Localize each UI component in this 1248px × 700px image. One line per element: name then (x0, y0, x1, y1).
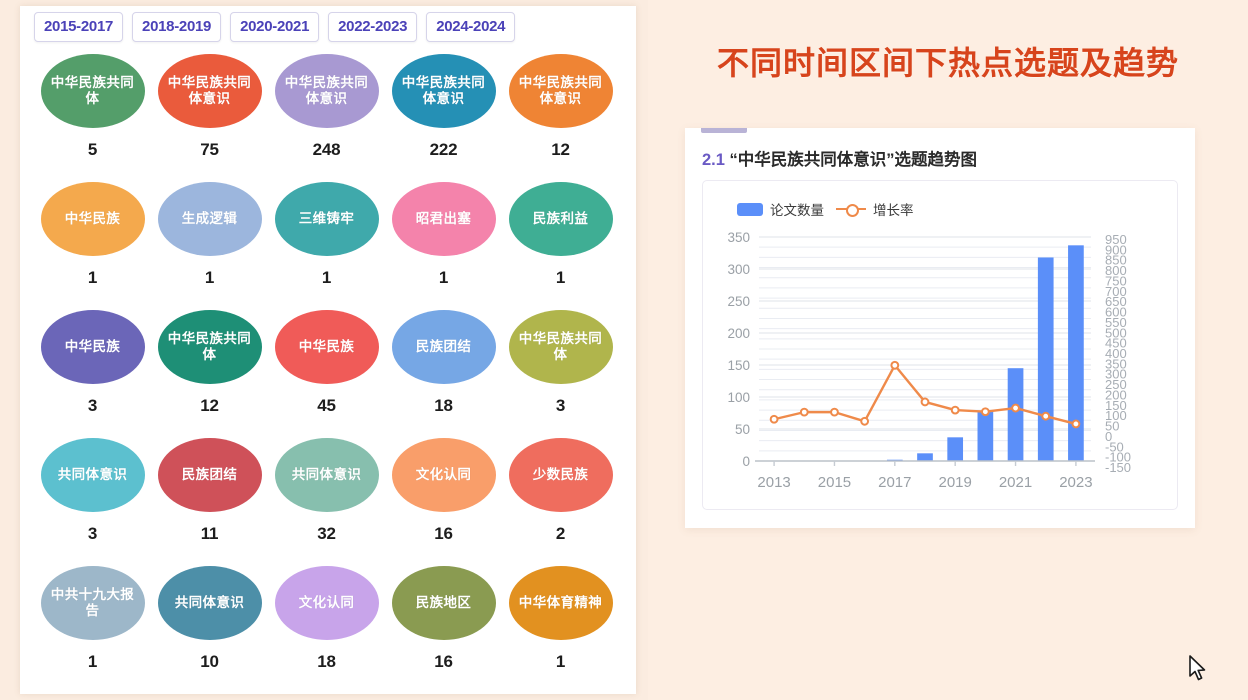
trend-chart-svg: 0501001502002503003509509008508007507006… (703, 229, 1179, 511)
topic-bubble[interactable]: 生成逻辑 (158, 182, 262, 256)
svg-text:350: 350 (727, 230, 750, 245)
topic-bubble[interactable]: 中华体育精神 (509, 566, 613, 640)
tab-range-3[interactable]: 2022-2023 (328, 12, 417, 42)
topic-bubble[interactable]: 文化认同 (392, 438, 496, 512)
topic-bubble-count: 1 (88, 268, 97, 288)
bubble-cell: 昭君出塞1 (385, 182, 502, 310)
chart-title: 2.1 “中华民族共同体意识”选题趋势图 (702, 146, 977, 170)
card-accent-bar (701, 128, 747, 133)
topic-bubble[interactable]: 共同体意识 (158, 566, 262, 640)
chart-legend: 论文数量 增长率 (737, 199, 914, 219)
line-swatch-icon (836, 203, 866, 215)
topic-bubble[interactable]: 中华民族共同体 (509, 310, 613, 384)
svg-text:2019: 2019 (938, 474, 971, 491)
topic-bubble-count: 222 (430, 140, 458, 160)
bubble-row: 中共十九大报告1共同体意识10文化认同18民族地区16中华体育精神1 (34, 566, 622, 694)
topic-bubble-count: 1 (205, 268, 214, 288)
bubble-cell: 民族团结11 (151, 438, 268, 566)
topic-bubble[interactable]: 共同体意识 (41, 438, 145, 512)
bubble-cell: 中华民族3 (34, 310, 151, 438)
svg-text:0: 0 (742, 454, 750, 469)
bubble-row: 中华民族共同体5中华民族共同体意识75中华民族共同体意识248中华民族共同体意识… (34, 54, 622, 182)
page-title: 不同时间区间下热点选题及趋势 (662, 38, 1234, 84)
svg-text:50: 50 (735, 422, 750, 437)
topic-bubble-count: 1 (556, 268, 565, 288)
bubble-row: 中华民族3中华民族共同体12中华民族45民族团结18中华民族共同体3 (34, 310, 622, 438)
bubble-cell: 中华民族共同体意识222 (385, 54, 502, 182)
bubble-cell: 文化认同16 (385, 438, 502, 566)
svg-text:2013: 2013 (757, 474, 790, 491)
topic-bubble[interactable]: 中华民族共同体意识 (158, 54, 262, 128)
svg-text:200: 200 (727, 326, 750, 341)
bubble-cell: 中共十九大报告1 (34, 566, 151, 694)
topic-bubble[interactable]: 民族利益 (509, 182, 613, 256)
topic-bubble-count: 18 (317, 652, 336, 672)
mouse-cursor-icon (1188, 655, 1208, 683)
bubble-row: 共同体意识3民族团结11共同体意识32文化认同16少数民族2 (34, 438, 622, 566)
topic-bubble-count: 16 (434, 652, 453, 672)
bubble-cell: 中华民族45 (268, 310, 385, 438)
bubble-cell: 中华民族共同体意识12 (502, 54, 619, 182)
topic-bubble[interactable]: 中华民族共同体意识 (275, 54, 379, 128)
topic-bubble[interactable]: 三维铸牢 (275, 182, 379, 256)
topic-bubble-count: 1 (439, 268, 448, 288)
topic-bubble[interactable]: 民族团结 (392, 310, 496, 384)
topic-bubble-count: 75 (200, 140, 219, 160)
tab-range-2[interactable]: 2020-2021 (230, 12, 319, 42)
topic-bubble[interactable]: 中华民族共同体意识 (509, 54, 613, 128)
topic-bubble-count: 1 (322, 268, 331, 288)
svg-text:100: 100 (727, 390, 750, 405)
bubble-cell: 中华民族共同体意识75 (151, 54, 268, 182)
topic-bubble-count: 12 (551, 140, 570, 160)
topic-bubble-count: 1 (88, 652, 97, 672)
topic-bubble[interactable]: 文化认同 (275, 566, 379, 640)
chart-plot-area: 论文数量 增长率 0501001502002503003509509008508… (702, 180, 1178, 510)
bubble-cell: 民族利益1 (502, 182, 619, 310)
legend-label-bars: 论文数量 (770, 199, 824, 219)
tab-range-4[interactable]: 2024-2024 (426, 12, 515, 42)
topic-bubble[interactable]: 中华民族 (275, 310, 379, 384)
svg-text:150: 150 (727, 358, 750, 373)
bubble-cell: 生成逻辑1 (151, 182, 268, 310)
topic-bubble[interactable]: 中共十九大报告 (41, 566, 145, 640)
bubble-cell: 三维铸牢1 (268, 182, 385, 310)
bubble-cell: 中华民族共同体3 (502, 310, 619, 438)
topic-bubble-count: 11 (201, 524, 219, 544)
svg-text:2021: 2021 (999, 474, 1032, 491)
bubble-cell: 民族地区16 (385, 566, 502, 694)
chart-card: 2.1 “中华民族共同体意识”选题趋势图 论文数量 增长率 0501001502… (685, 128, 1195, 528)
topic-bubble[interactable]: 昭君出塞 (392, 182, 496, 256)
topic-bubble[interactable]: 中华民族共同体 (41, 54, 145, 128)
bubble-cell: 中华民族共同体12 (151, 310, 268, 438)
chart-title-number: 2.1 (702, 151, 725, 169)
bubble-cell: 中华民族共同体意识248 (268, 54, 385, 182)
topic-bubble-count: 32 (317, 524, 336, 544)
trend-panel: 不同时间区间下热点选题及趋势 2.1 “中华民族共同体意识”选题趋势图 论文数量… (648, 0, 1248, 700)
bubble-cell: 文化认同18 (268, 566, 385, 694)
plot-canvas: 0501001502002503003509509008508007507006… (703, 229, 1179, 511)
topic-bubble[interactable]: 中华民族共同体意识 (392, 54, 496, 128)
topic-bubble[interactable]: 中华民族 (41, 182, 145, 256)
topic-bubble-count: 2 (556, 524, 565, 544)
topic-bubble-count: 12 (200, 396, 219, 416)
bubble-cell: 中华体育精神1 (502, 566, 619, 694)
chart-title-text: “中华民族共同体意识”选题趋势图 (725, 151, 977, 169)
bubble-cell: 少数民族2 (502, 438, 619, 566)
topic-bubble[interactable]: 民族地区 (392, 566, 496, 640)
svg-text:2017: 2017 (878, 474, 911, 491)
svg-text:-150: -150 (1105, 460, 1131, 475)
topic-bubble-count: 10 (200, 652, 219, 672)
bubble-cell: 民族团结18 (385, 310, 502, 438)
svg-text:2023: 2023 (1059, 474, 1092, 491)
topic-bubble-count: 18 (434, 396, 453, 416)
svg-text:2015: 2015 (818, 474, 851, 491)
topic-bubble-count: 16 (434, 524, 453, 544)
bubble-cell: 共同体意识10 (151, 566, 268, 694)
topic-bubble-count: 5 (88, 140, 97, 160)
tab-range-0[interactable]: 2015-2017 (34, 12, 123, 42)
topic-bubble[interactable]: 共同体意识 (275, 438, 379, 512)
time-range-tab-bar[interactable]: 2015-2017 2018-2019 2020-2021 2022-2023 … (34, 12, 515, 42)
bubble-row: 中华民族1生成逻辑1三维铸牢1昭君出塞1民族利益1 (34, 182, 622, 310)
topic-bubble-count: 1 (556, 652, 565, 672)
legend-item-bars[interactable]: 论文数量 (737, 199, 824, 219)
topic-bubble-count: 248 (313, 140, 341, 160)
bubble-cell: 中华民族共同体5 (34, 54, 151, 182)
topic-bubble-count: 3 (556, 396, 565, 416)
svg-text:300: 300 (727, 262, 750, 277)
bar-swatch-icon (737, 203, 763, 216)
topic-bubble[interactable]: 民族团结 (158, 438, 262, 512)
topics-panel: 2015-2017 2018-2019 2020-2021 2022-2023 … (20, 6, 636, 694)
legend-label-line: 增长率 (873, 199, 914, 219)
bubble-cell: 共同体意识3 (34, 438, 151, 566)
topic-bubble-count: 45 (317, 396, 336, 416)
bubble-cell: 中华民族1 (34, 182, 151, 310)
topic-bubble-grid: 中华民族共同体5中华民族共同体意识75中华民族共同体意识248中华民族共同体意识… (34, 54, 622, 694)
topic-bubble[interactable]: 中华民族 (41, 310, 145, 384)
tab-range-1[interactable]: 2018-2019 (132, 12, 221, 42)
svg-text:250: 250 (727, 294, 750, 309)
topic-bubble-count: 3 (88, 524, 97, 544)
topic-bubble-count: 3 (88, 396, 97, 416)
topic-bubble[interactable]: 少数民族 (509, 438, 613, 512)
bubble-cell: 共同体意识32 (268, 438, 385, 566)
topic-bubble[interactable]: 中华民族共同体 (158, 310, 262, 384)
legend-item-line[interactable]: 增长率 (836, 199, 914, 219)
